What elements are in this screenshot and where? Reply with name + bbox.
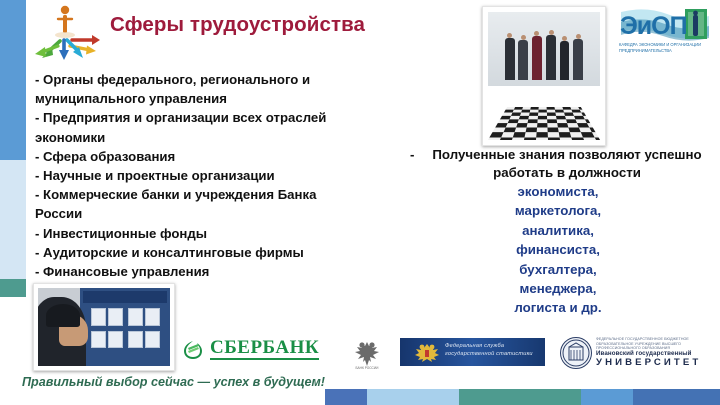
career-positions-block: - Полученные знания позволяют успешно ра… bbox=[408, 146, 708, 318]
vacancy-slip bbox=[108, 308, 123, 326]
list-item: - Органы федерального, регионального и м… bbox=[35, 70, 365, 108]
person-figure bbox=[505, 38, 515, 80]
sberbank-leaf-icon bbox=[182, 339, 204, 361]
band-segment bbox=[367, 389, 459, 405]
rosstat-line1: Федеральная служба bbox=[445, 343, 533, 351]
slide-canvas: Сферы трудоустройства - Органы федеральн… bbox=[0, 0, 720, 405]
sidebar-segment-teal bbox=[0, 279, 26, 297]
page-title: Сферы трудоустройства bbox=[110, 13, 365, 37]
ivanovo-state-university-logo: Федеральное государственное бюджетное об… bbox=[560, 336, 710, 370]
ivgu-mid-text: Ивановский государственный bbox=[596, 350, 692, 357]
eiop-line1: КАФЕДРА ЭКОНОМИКИ И ОРГАНИЗАЦИИ bbox=[619, 42, 701, 47]
sberbank-logo: СБЕРБАНК bbox=[182, 338, 322, 364]
sberbank-wordmark: СБЕРБАНК bbox=[210, 338, 319, 360]
career-lead-text: Полученные знания позволяют успешно рабо… bbox=[408, 146, 708, 182]
person-figure bbox=[546, 35, 556, 80]
vacancy-slip bbox=[145, 308, 160, 326]
job-title: логиста и др. bbox=[408, 298, 708, 317]
person-figure bbox=[573, 39, 583, 80]
band-segment bbox=[633, 389, 720, 405]
list-item: - Сфера образования bbox=[35, 147, 365, 166]
vacancy-slip bbox=[128, 308, 143, 326]
list-item: - Предприятия и организации всех отрасле… bbox=[35, 108, 365, 146]
person-figure bbox=[518, 40, 528, 80]
list-item: - Аудиторские и консалтинговые фирмы bbox=[35, 243, 365, 262]
sidebar-segment-blue bbox=[0, 0, 26, 160]
vacancy-slip bbox=[128, 331, 143, 349]
list-item: - Инвестиционные фонды bbox=[35, 224, 365, 243]
job-title: менеджера, bbox=[408, 279, 708, 298]
vacancy-slip bbox=[145, 331, 160, 349]
bottom-color-band bbox=[325, 389, 720, 405]
vacancy-slip bbox=[108, 331, 123, 349]
bank-of-russia-logo: БАНК РОССИИ bbox=[345, 336, 389, 370]
job-title: маркетолога, bbox=[408, 201, 708, 220]
list-item: - Коммерческие банки и учреждения Банка … bbox=[35, 185, 365, 223]
eiop-department-logo: ЭиОП КАФЕДРА ЭКОНОМИКИ И ОРГАНИЗАЦИИ ПРЕ… bbox=[615, 2, 715, 60]
arrows-person-icon bbox=[28, 2, 104, 60]
eiop-line2: ПРЕДПРИНИМАТЕЛЬСТВА bbox=[619, 48, 672, 53]
russian-eagle-icon bbox=[412, 341, 442, 363]
vacancy-board-banner bbox=[83, 291, 167, 303]
employment-spheres-list: - Органы федерального, регионального и м… bbox=[35, 70, 365, 281]
sidebar-segment-pale bbox=[0, 160, 26, 279]
vacancy-slip bbox=[91, 331, 106, 349]
job-vacancies-photo bbox=[33, 283, 175, 371]
slide-tagline: Правильный выбор сейчас — успех в будуще… bbox=[22, 375, 325, 389]
rosstat-line2: государственной статистики bbox=[445, 351, 533, 359]
job-title: бухгалтера, bbox=[408, 260, 708, 279]
job-title: финансиста, bbox=[408, 240, 708, 259]
svg-text:ЭиОП: ЭиОП bbox=[620, 12, 687, 40]
band-segment bbox=[325, 389, 367, 405]
vacancy-slip bbox=[91, 308, 106, 326]
business-people-photo bbox=[482, 6, 606, 146]
checkerboard-floor bbox=[488, 107, 600, 140]
career-lead: - Полученные знания позволяют успешно ра… bbox=[408, 146, 708, 182]
ivgu-small-text: Федеральное государственное бюджетное об… bbox=[596, 337, 708, 351]
list-item: - Финансовые управления bbox=[35, 262, 365, 281]
list-item: - Научные и проектные организации bbox=[35, 166, 365, 185]
band-segment bbox=[581, 389, 633, 405]
person-figure bbox=[532, 36, 542, 80]
job-title: аналитика, bbox=[408, 221, 708, 240]
ivgu-big-text: УНИВЕРСИТЕТ bbox=[596, 357, 701, 368]
band-segment bbox=[459, 389, 581, 405]
cbr-caption: БАНК РОССИИ bbox=[356, 366, 380, 370]
rosstat-logo: Федеральная служба государственной стати… bbox=[400, 338, 545, 366]
person-figure bbox=[560, 41, 569, 79]
dash-marker: - bbox=[410, 146, 414, 164]
job-title: экономиста, bbox=[408, 182, 708, 201]
university-seal-icon bbox=[560, 337, 592, 369]
person-hair bbox=[46, 304, 80, 327]
